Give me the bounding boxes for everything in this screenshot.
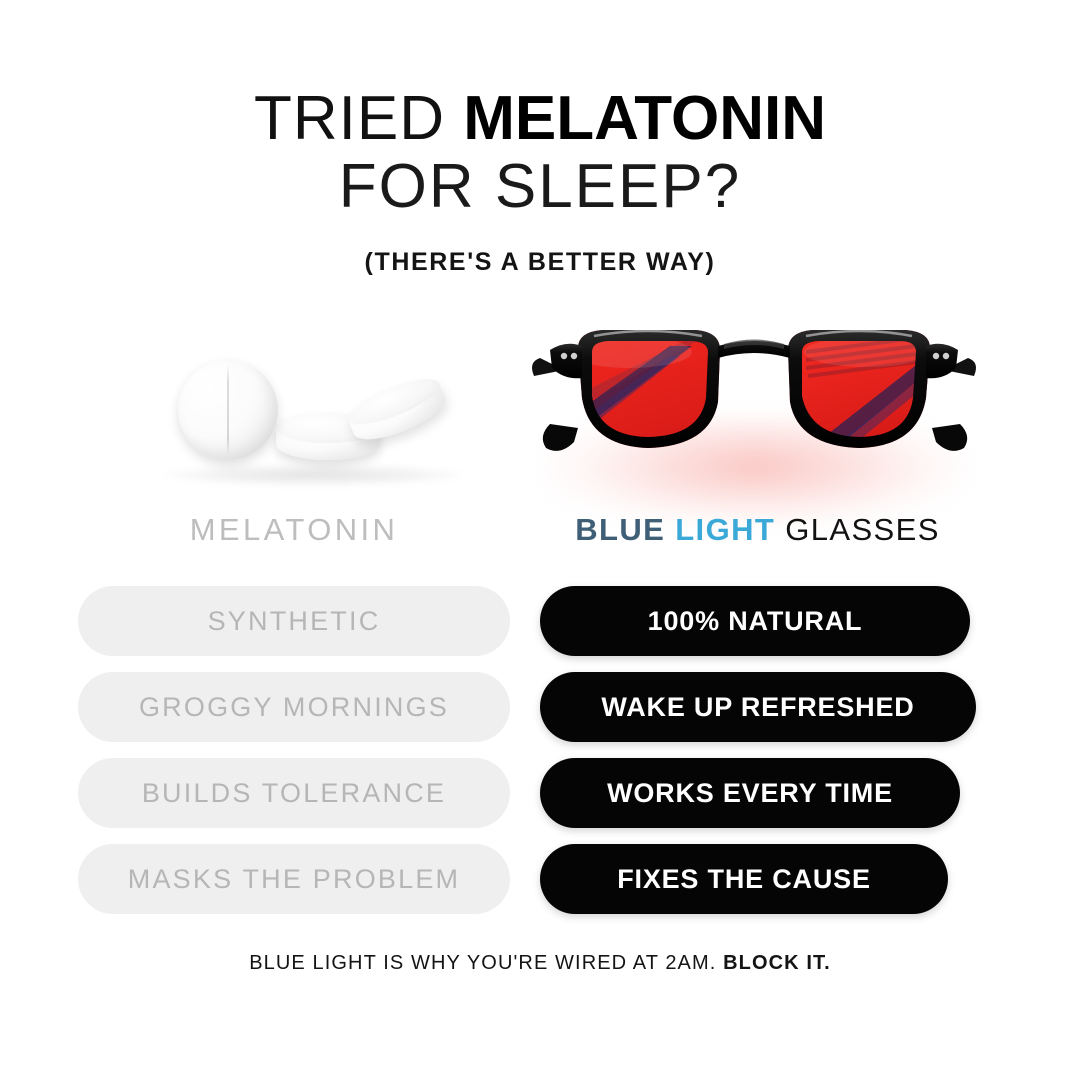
comparison-grid: SYNTHETIC 100% NATURAL GROGGY MORNINGS W… xyxy=(0,586,1080,930)
comparison-row: GROGGY MORNINGS WAKE UP REFRESHED xyxy=(0,672,1080,758)
blue-light-glasses-icon xyxy=(520,306,990,506)
negative-pill-builds-tolerance: BUILDS TOLERANCE xyxy=(78,758,510,828)
headline-subtitle: (THERE'S A BETTER WAY) xyxy=(0,248,1080,277)
tablets-shadow xyxy=(164,464,464,486)
headline-line-1: TRIED MELATONIN xyxy=(0,86,1080,152)
negative-pill-masks-the-problem: MASKS THE PROBLEM xyxy=(78,844,510,914)
positive-pill-wake-up-refreshed: WAKE UP REFRESHED xyxy=(540,672,976,742)
footer-tagline: BLUE LIGHT IS WHY YOU'RE WIRED AT 2AM. B… xyxy=(0,952,1080,975)
headline-light-part: TRIED xyxy=(254,84,463,153)
tablet-leaning xyxy=(343,371,450,449)
positive-pill-works-every-time: WORKS EVERY TIME xyxy=(540,758,960,828)
comparison-row: BUILDS TOLERANCE WORKS EVERY TIME xyxy=(0,758,1080,844)
comparison-row: MASKS THE PROBLEM FIXES THE CAUSE xyxy=(0,844,1080,930)
caption-word-blue: BLUE xyxy=(575,512,675,547)
caption-word-glasses: GLASSES xyxy=(775,512,940,547)
footer-text: BLUE LIGHT IS WHY YOU'RE WIRED AT 2AM. xyxy=(249,952,723,974)
footer-cta: BLOCK IT. xyxy=(723,952,831,974)
column-caption-glasses: BLUE LIGHT GLASSES xyxy=(540,512,975,548)
caption-word-light: LIGHT xyxy=(675,512,775,547)
tablet-front-scored xyxy=(178,360,278,460)
negative-pill-synthetic: SYNTHETIC xyxy=(78,586,510,656)
headline-bold-part: MELATONIN xyxy=(463,84,826,153)
poster-canvas: TRIED MELATONIN FOR SLEEP? (THERE'S A BE… xyxy=(0,0,1080,1080)
positive-pill-natural: 100% NATURAL xyxy=(540,586,970,656)
positive-pill-fixes-the-cause: FIXES THE CAUSE xyxy=(540,844,948,914)
product-imagery-row xyxy=(0,300,1080,510)
headline-block: TRIED MELATONIN FOR SLEEP? (THERE'S A BE… xyxy=(0,86,1080,277)
comparison-row: SYNTHETIC 100% NATURAL xyxy=(0,586,1080,672)
headline-line-2: FOR SLEEP? xyxy=(0,154,1080,220)
melatonin-tablets-icon xyxy=(150,352,470,502)
negative-pill-groggy-mornings: GROGGY MORNINGS xyxy=(78,672,510,742)
column-caption-melatonin: MELATONIN xyxy=(78,512,510,548)
